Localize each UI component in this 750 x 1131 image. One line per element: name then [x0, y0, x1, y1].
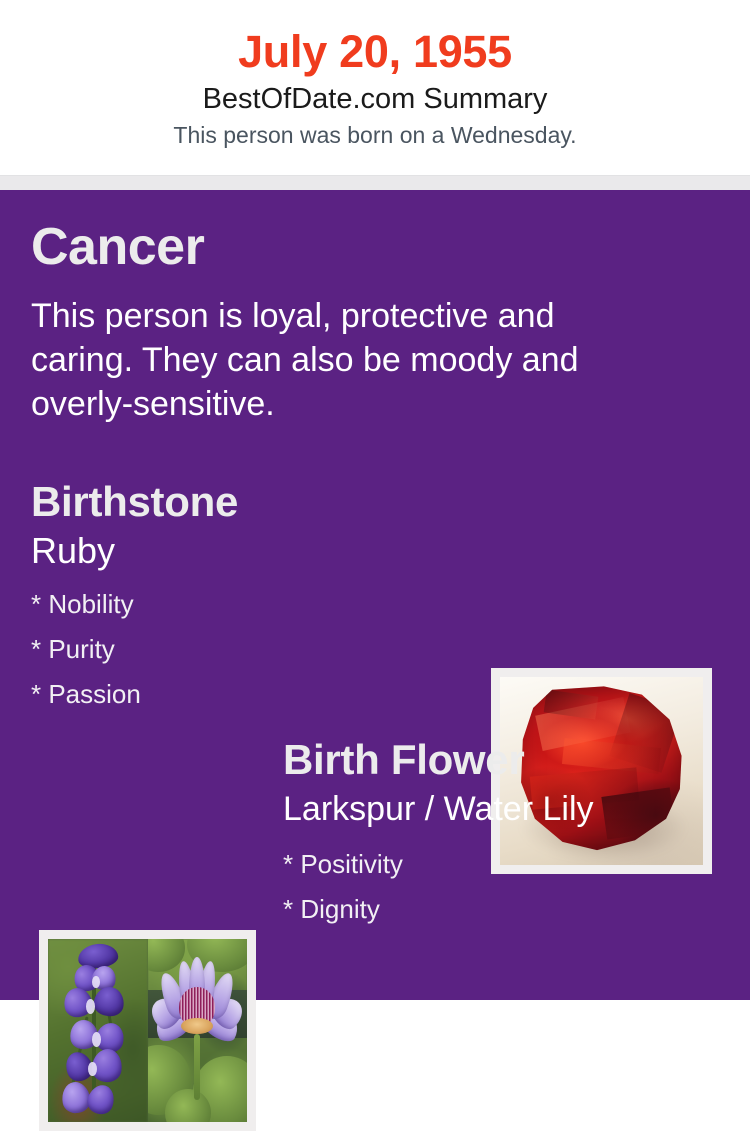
site-summary-label: BestOfDate.com Summary — [0, 80, 750, 118]
birth-flower-photo — [48, 939, 247, 1122]
card-header: July 20, 1955 BestOfDate.com Summary Thi… — [0, 0, 750, 175]
list-item: * Dignity — [283, 887, 683, 932]
larkspur-center — [92, 1032, 101, 1047]
birthstone-name: Ruby — [31, 530, 115, 572]
header-divider — [0, 175, 750, 190]
birth-flower-name: Larkspur / Water Lily — [283, 788, 594, 830]
larkspur-center — [92, 976, 100, 989]
list-item: * Nobility — [31, 582, 451, 627]
larkspur-center — [86, 999, 95, 1014]
birth-flower-photo-frame — [39, 930, 256, 1131]
birthstone-photo — [500, 677, 703, 865]
list-item: * Purity — [31, 627, 451, 672]
lily-core-base — [181, 1018, 213, 1034]
list-item: * Positivity — [283, 842, 683, 887]
lily-stem — [194, 1034, 200, 1100]
page-title-date: July 20, 1955 — [0, 26, 750, 78]
birth-flower-heading: Birth Flower — [283, 736, 524, 784]
list-item: * Passion — [31, 672, 451, 717]
birth-flower-trait-list: * Positivity * Dignity — [283, 842, 683, 932]
birthday-summary-card: July 20, 1955 BestOfDate.com Summary Thi… — [0, 0, 750, 1000]
zodiac-sign-heading: Cancer — [31, 218, 204, 276]
birthstone-trait-list: * Nobility * Purity * Passion — [31, 582, 451, 717]
zodiac-description: This person is loyal, protective and car… — [31, 294, 651, 426]
larkspur-photo-half — [48, 939, 148, 1122]
birthstone-heading: Birthstone — [31, 478, 238, 526]
born-weekday-note: This person was born on a Wednesday. — [0, 119, 750, 151]
larkspur-center — [88, 1062, 97, 1077]
content-panel: Cancer This person is loyal, protective … — [0, 190, 750, 1000]
water-lily-photo-half — [148, 939, 248, 1122]
